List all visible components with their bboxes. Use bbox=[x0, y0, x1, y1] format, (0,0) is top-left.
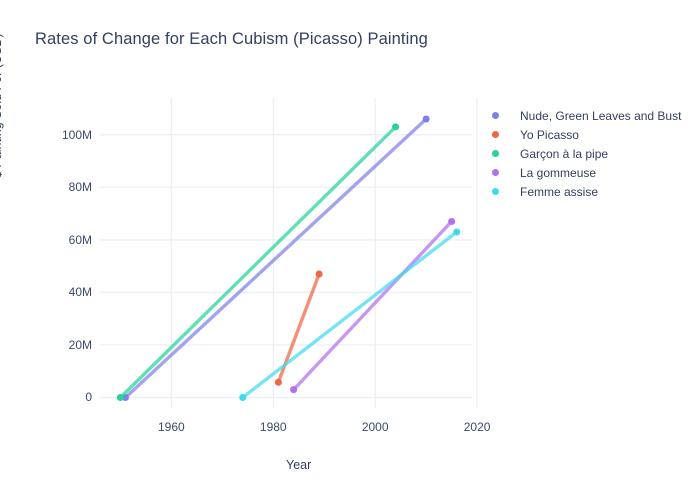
series-0 bbox=[122, 116, 430, 401]
legend-marker-icon bbox=[492, 169, 499, 176]
legend-item[interactable]: Yo Picasso bbox=[492, 125, 692, 144]
plot-area bbox=[100, 98, 472, 408]
series-line bbox=[294, 221, 452, 389]
x-tick-label: 1980 bbox=[260, 420, 287, 434]
legend-item[interactable]: La gommeuse bbox=[492, 163, 692, 182]
data-point[interactable] bbox=[239, 394, 246, 401]
legend-marker-icon bbox=[492, 131, 499, 138]
chart-legend: Nude, Green Leaves and BustYo PicassoGar… bbox=[492, 106, 692, 201]
x-tick-label: 1960 bbox=[158, 420, 185, 434]
plot-svg bbox=[100, 98, 472, 408]
data-point[interactable] bbox=[290, 386, 297, 393]
data-point[interactable] bbox=[117, 394, 124, 401]
series-4 bbox=[239, 228, 460, 401]
legend-item-label: La gommeuse bbox=[520, 166, 596, 180]
x-tick-label: 2000 bbox=[362, 420, 389, 434]
legend-item-label: Nude, Green Leaves and Bust bbox=[520, 109, 681, 123]
legend-item-label: Yo Picasso bbox=[520, 128, 579, 142]
legend-item-label: Garçon à la pipe bbox=[520, 147, 608, 161]
legend-marker-icon bbox=[492, 150, 499, 157]
x-tick-label: 2020 bbox=[464, 420, 491, 434]
legend-item[interactable]: Nude, Green Leaves and Bust bbox=[492, 106, 692, 125]
legend-item[interactable]: Femme assise bbox=[492, 182, 692, 201]
legend-item[interactable]: Garçon à la pipe bbox=[492, 144, 692, 163]
data-point[interactable] bbox=[316, 271, 323, 278]
chart-container: Rates of Change for Each Cubism (Picasso… bbox=[0, 0, 700, 500]
series-line bbox=[125, 119, 426, 397]
legend-marker-icon bbox=[492, 188, 499, 195]
series-2 bbox=[117, 123, 399, 401]
series-line bbox=[120, 127, 395, 398]
data-point[interactable] bbox=[453, 228, 460, 235]
series-line bbox=[243, 232, 457, 398]
data-point[interactable] bbox=[392, 123, 399, 130]
legend-item-label: Femme assise bbox=[520, 185, 598, 199]
data-point[interactable] bbox=[423, 116, 430, 123]
data-point[interactable] bbox=[448, 218, 455, 225]
data-point[interactable] bbox=[275, 379, 282, 386]
legend-marker-icon bbox=[492, 112, 499, 119]
series-3 bbox=[290, 218, 455, 393]
